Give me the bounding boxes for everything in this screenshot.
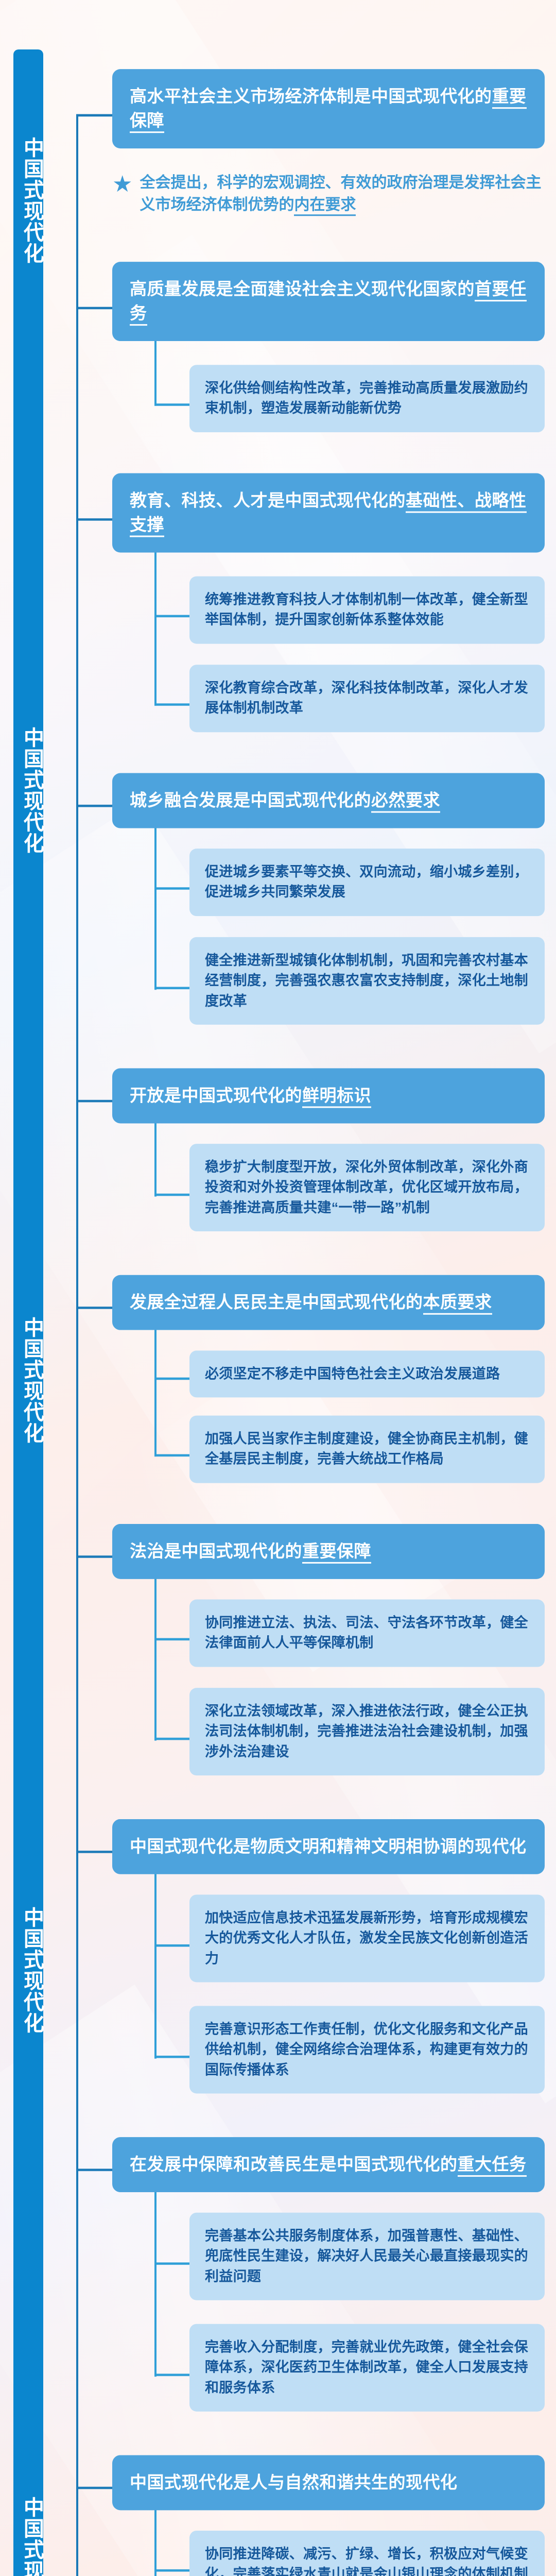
section-head-emphasis: 鲜明标识: [302, 1086, 371, 1108]
decorative-sheen: [62, 234, 556, 1053]
section-head-emphasis: 本质要求: [423, 1293, 492, 1315]
section-head-text: 高质量发展是全面建设社会主义现代化国家的: [130, 279, 475, 298]
sub-item-card: 统筹推进教育科技人才体制机制一体改革，健全新型举国体制，提升国家创新体系整体效能: [189, 577, 545, 644]
sub-item-card: 必须坚定不移走中国特色社会主义政治发展道路: [189, 1350, 545, 1397]
section-head-text: 法治是中国式现代化的: [130, 1541, 302, 1561]
section-head-card: 发展全过程人民民主是中国式现代化的本质要求: [112, 1275, 545, 1330]
branch-connector: [154, 2262, 189, 2265]
main-trunk: [76, 114, 78, 2576]
trunk-stub: [76, 1851, 112, 1853]
sub-item-card: 协同推进立法、执法、司法、守法各环节改革，健全法律面前人人平等保障机制: [189, 1600, 545, 1667]
branch-connector: [154, 403, 189, 406]
sub-item-card: 完善基本公共服务制度体系，加强普惠性、基础性、兜底性民生建设，解决好人民最关心最…: [189, 2213, 545, 2300]
highlight-note-text: 全会提出，科学的宏观调控、有效的政府治理是发挥社会主义市场经济体制优势的内在要求: [140, 172, 545, 216]
section-head-card: 城乡融合发展是中国式现代化的必然要求: [112, 773, 545, 828]
branch-spine: [154, 1555, 157, 1740]
sub-item-card: 深化教育综合改革，深化科技体制改革，深化人才发展体制机制改革: [189, 665, 545, 732]
section-head-text: 城乡融合发展是中国式现代化的: [130, 791, 371, 810]
branch-connector: [154, 1944, 189, 1947]
branch-spine: [154, 1851, 157, 2059]
section-head-emphasis: 重要保障: [302, 1541, 371, 1564]
sub-item-card: 健全推进新型城镇化体制机制，巩固和完善农村基本经营制度，完善强农惠农富农支持制度…: [189, 937, 545, 1025]
section-head-text: 中国式现代化是人与自然和谐共生的现代化: [130, 2472, 458, 2492]
trunk-stub: [76, 114, 112, 117]
branch-connector: [154, 615, 189, 618]
branch-connector: [154, 1738, 189, 1740]
section-head-card: 教育、科技、人才是中国式现代化的基础性、战略性支撑: [112, 473, 545, 553]
section-head-card: 高质量发展是全面建设社会主义现代化国家的首要任务: [112, 262, 545, 341]
sub-item-card: 深化立法领域改革，深入推进依法行政，健全公正执法司法体制机制，完善推进法治社会建…: [189, 1688, 545, 1775]
branch-connector: [154, 1638, 189, 1641]
sub-item-card: 加强人民当家作主制度建设，健全协商民主机制，健全基层民主制度，完善大统战工作格局: [189, 1416, 545, 1483]
section-head-card: 开放是中国式现代化的鲜明标识: [112, 1068, 545, 1123]
trunk-stub: [76, 1555, 112, 1558]
section-head-text: 开放是中国式现代化的: [130, 1086, 302, 1105]
section-head-card: 在发展中保障和改善民生是中国式现代化的重大任务: [112, 2137, 545, 2192]
section-head-card: 高水平社会主义市场经济体制是中国式现代化的重要保障: [112, 69, 545, 148]
section-head-text: 高水平社会主义市场经济体制是中国式现代化的: [130, 87, 492, 106]
sub-item-card: 促进城乡要素平等交换、双向流动，缩小城乡差别，促进城乡共同繁荣发展: [189, 849, 545, 916]
sub-item-card: 协同推进降碳、减污、扩绿、增长，积极应对气候变化，完善落实绿水青山就是金山银山理…: [189, 2531, 545, 2576]
trunk-stub: [76, 805, 112, 807]
trunk-stub: [76, 1307, 112, 1309]
section-head-text: 在发展中保障和改善民生是中国式现代化的: [130, 2155, 458, 2174]
star-icon: ★: [112, 173, 132, 196]
sub-item-card: 稳步扩大制度型开放，深化外贸体制改革，深化外商投资和对外投资管理体制改革，优化区…: [189, 1144, 545, 1231]
branch-spine: [154, 2168, 157, 2377]
sub-item-card: 加快适应信息技术迅猛发展新形势，培育形成规模宏大的优秀文化人才队伍，激发全民族文…: [189, 1894, 545, 1982]
branch-connector: [154, 2569, 189, 2572]
section-head-text: 发展全过程人民民主是中国式现代化的: [130, 1293, 423, 1312]
branch-connector: [154, 1378, 189, 1380]
trunk-stub: [76, 2487, 112, 2489]
section-head-emphasis: 必然要求: [371, 791, 440, 813]
section-head-text: 教育、科技、人才是中国式现代化的: [130, 491, 406, 510]
branch-connector: [154, 987, 189, 989]
trunk-stub: [76, 1100, 112, 1103]
section-head-card: 中国式现代化是人与自然和谐共生的现代化: [112, 2455, 545, 2510]
branch-connector: [154, 1454, 189, 1457]
sub-item-card: 深化供给侧结构性改革，完善推动高质量发展激励约束机制，塑造发展新动能新优势: [189, 365, 545, 432]
trunk-stub: [76, 2168, 112, 2171]
branch-connector: [154, 2374, 189, 2376]
sub-item-card: 完善收入分配制度，完善就业优先政策，健全社会保障体系，深化医药卫生体制改革，健全…: [189, 2324, 545, 2412]
left-rail: [13, 49, 43, 2576]
section-head-emphasis: 重大任务: [458, 2155, 527, 2177]
branch-connector: [154, 703, 189, 706]
trunk-stub: [76, 307, 112, 310]
section-head-card: 法治是中国式现代化的重要保障: [112, 1524, 545, 1579]
infographic-page: 中国式现代化中国式现代化中国式现代化中国式现代化中国式现代化中国式现代化 高水平…: [0, 0, 556, 2576]
trunk-stub: [76, 518, 112, 521]
branch-connector: [154, 1194, 189, 1196]
highlight-note: ★全会提出，科学的宏观调控、有效的政府治理是发挥社会主义市场经济体制优势的内在要…: [112, 172, 545, 216]
branch-spine: [154, 805, 157, 990]
sub-item-card: 完善意识形态工作责任制，优化文化服务和文化产品供给机制，健全网络综合治理体系，构…: [189, 2006, 545, 2093]
branch-connector: [154, 2056, 189, 2058]
section-head-card: 中国式现代化是物质文明和精神文明相协调的现代化: [112, 1819, 545, 1874]
highlight-note-emphasis: 内在要求: [294, 196, 356, 216]
section-head-text: 中国式现代化是物质文明和精神文明相协调的现代化: [130, 1837, 527, 1856]
branch-connector: [154, 887, 189, 890]
